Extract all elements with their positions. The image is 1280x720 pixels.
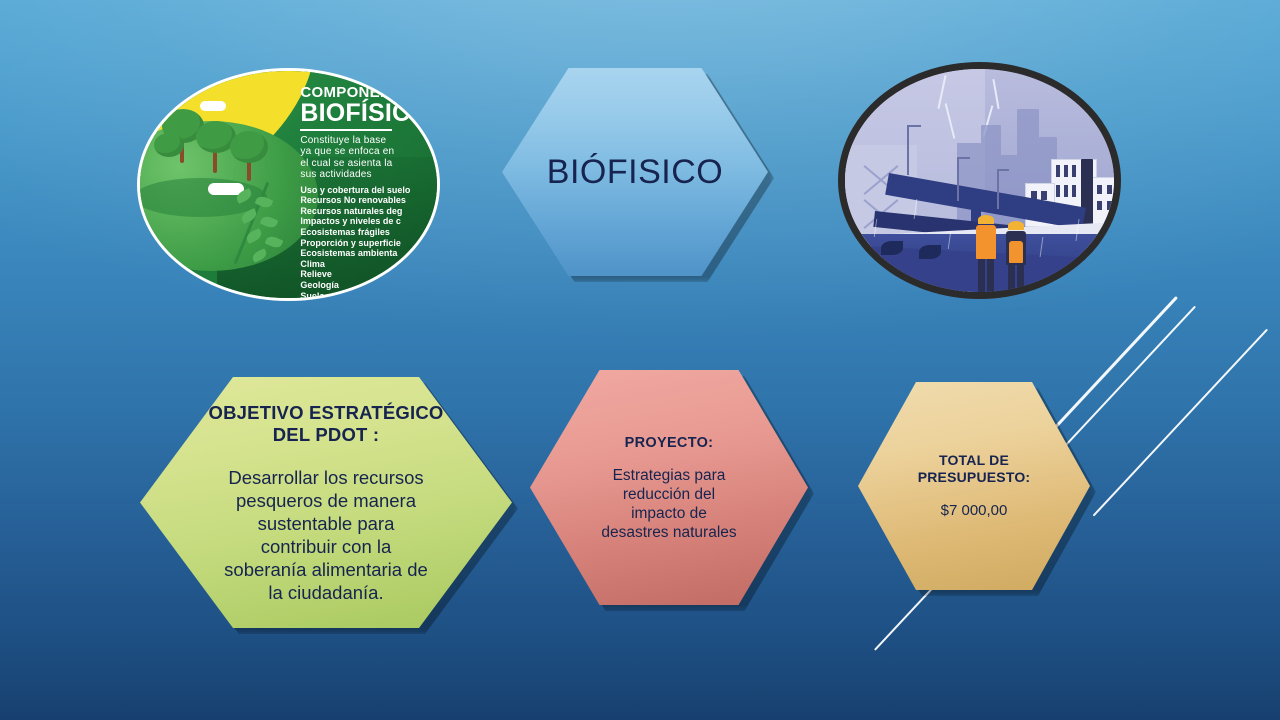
window-icon (1056, 185, 1060, 197)
hard-hat-icon (978, 215, 994, 224)
street-lamp-icon (907, 125, 921, 127)
hex-presupuesto-body: $7 000,00 (918, 502, 1031, 520)
list-item: Geología (300, 280, 440, 291)
biofisico-heading-small: COMPONENTE (300, 85, 440, 100)
city-building (1091, 177, 1121, 227)
list-item: Impactos y niveles de c (300, 216, 440, 227)
window-icon (1041, 191, 1047, 200)
hex-biofisico-content: BIÓFISICO (510, 153, 761, 192)
window-icon (1107, 201, 1112, 210)
list-item: Clima (300, 259, 440, 270)
hex-objetivo-content: OBJETIVO ESTRATÉGICO DEL PDOT : Desarrol… (156, 402, 495, 604)
list-item: Ecosistemas ambienta (300, 248, 440, 259)
list-item: Recursos naturales deg (300, 206, 440, 217)
tree-icon (230, 131, 268, 163)
biofisico-text-block: COMPONENTE BIOFÍSICO Constituye la base … (300, 85, 440, 294)
hex-proyecto-heading: PROYECTO: (601, 434, 736, 452)
hex-objetivo-body: Desarrollar los recursos pesqueros de ma… (209, 466, 444, 604)
list-item: Ecosistemas frágiles (300, 227, 440, 238)
window-icon (1097, 185, 1102, 194)
palm-tree-icon (881, 241, 903, 255)
window-icon (1072, 165, 1076, 177)
safety-vest-icon (1009, 241, 1023, 263)
list-item: Proporción y superficie (300, 238, 440, 249)
worker-leg (978, 259, 985, 293)
hex-presupuesto-heading: TOTAL DE PRESUPUESTO: (918, 452, 1031, 486)
hex-proyecto-content: PROYECTO: Estrategias para reducción del… (562, 434, 775, 542)
window-icon (1056, 165, 1060, 177)
hex-presupuesto-content: TOTAL DE PRESUPUESTO: $7 000,00 (885, 452, 1063, 520)
worker-figure-2 (1003, 221, 1029, 299)
street-lamp-icon (957, 157, 959, 201)
palm-tree-icon (919, 245, 941, 259)
worker-leg (987, 259, 994, 293)
list-item: Recursos No renovables (300, 195, 440, 206)
worker-leg (1008, 265, 1015, 297)
biofisico-artwork: COMPONENTE BIOFÍSICO Constituye la base … (140, 71, 437, 298)
street-lamp-icon (997, 169, 1009, 171)
list-item: Uso y cobertura del suelo (300, 185, 440, 196)
biofisico-underline (300, 129, 392, 131)
window-icon (1064, 185, 1068, 197)
window-icon (1097, 201, 1102, 210)
hex-objetivo-heading: OBJETIVO ESTRATÉGICO DEL PDOT : (209, 402, 444, 446)
image-componente-biofisico: COMPONENTE BIOFÍSICO Constituye la base … (137, 68, 440, 301)
street-lamp-icon (997, 169, 999, 209)
hex-proyecto-body: Estrategias para reducción del impacto d… (601, 466, 736, 542)
window-icon (1064, 165, 1068, 177)
worker-leg (1017, 265, 1024, 297)
hard-hat-icon (1008, 221, 1024, 230)
biofisico-bullet-list: Uso y cobertura del suelo Recursos No re… (300, 185, 440, 301)
street-lamp-icon (907, 125, 909, 175)
list-item: Suelos (300, 291, 440, 301)
worker-figure-1 (973, 215, 999, 297)
slide-canvas: COMPONENTE BIOFÍSICO Constituye la base … (0, 0, 1280, 720)
street-lamp-icon (957, 157, 970, 159)
cloud-icon (200, 101, 226, 111)
list-item: Relieve (300, 269, 440, 280)
window-icon (1107, 185, 1112, 194)
hex-biofisico-label: BIÓFISICO (547, 153, 723, 192)
biofisico-paragraph: Constituye la base ya que se enfoca en e… (300, 135, 440, 181)
safety-vest-icon (976, 225, 996, 259)
image-disaster-scene (838, 62, 1121, 299)
biofisico-heading-big: BIOFÍSICO (300, 101, 440, 126)
tree-icon (154, 133, 184, 157)
window-icon (1072, 185, 1076, 197)
